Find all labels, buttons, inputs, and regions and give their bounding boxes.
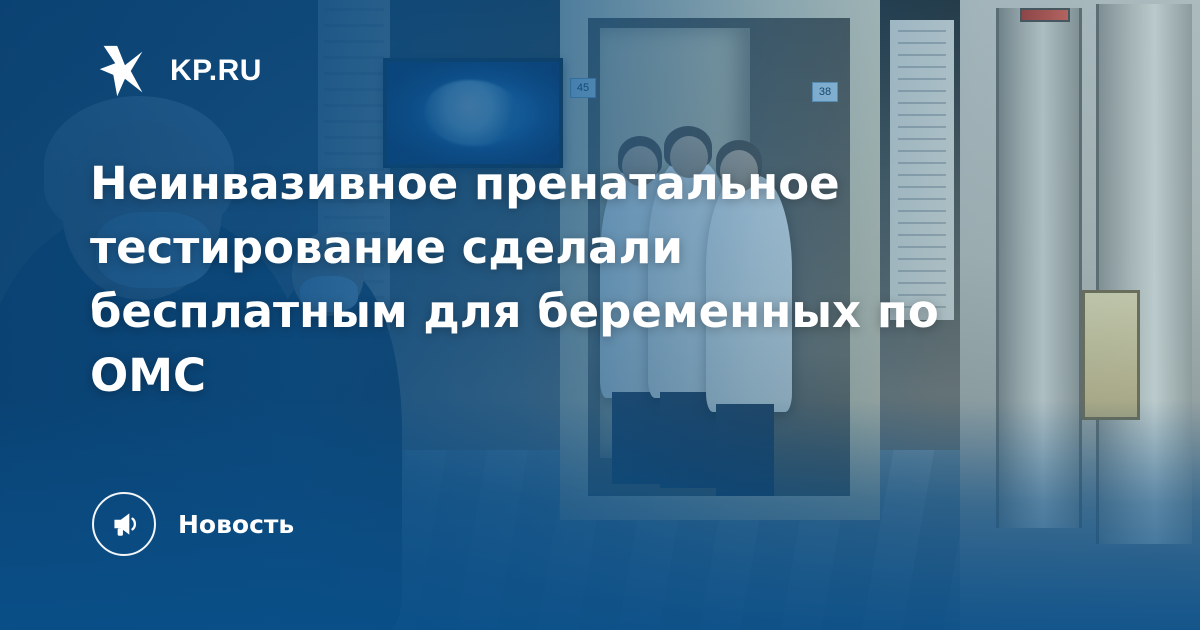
news-share-card: 45 38 K xyxy=(0,0,1200,630)
brand-name: KP.RU xyxy=(170,54,262,88)
status-badge: Новость xyxy=(178,510,294,539)
brand-lockup[interactable]: KP.RU xyxy=(92,40,262,102)
page-title: Неинвазивное пренатальное тестирование с… xyxy=(90,152,970,408)
megaphone-icon xyxy=(92,492,156,556)
content-type-badge[interactable]: Новость xyxy=(92,492,294,556)
bird-logo-icon xyxy=(92,40,154,102)
card-content: KP.RU Неинвазивное пренатальное тестиров… xyxy=(0,0,1200,630)
